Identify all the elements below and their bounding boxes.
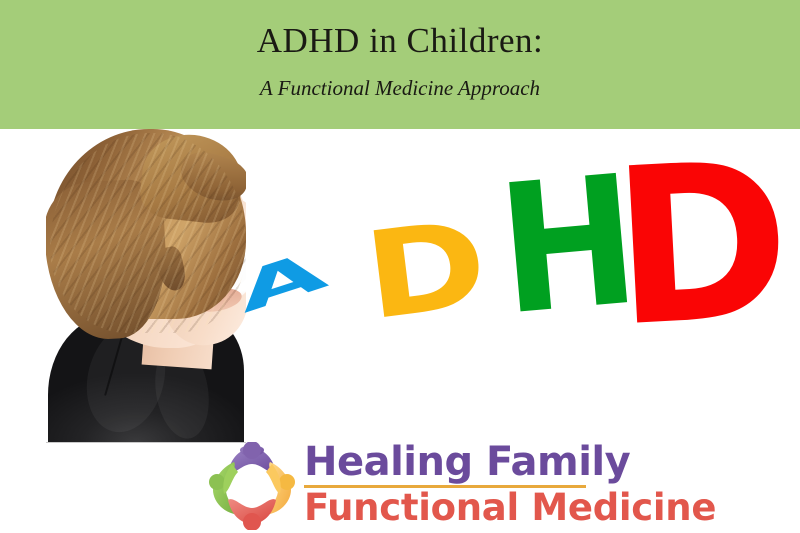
adhd-letter-d-second: D [608, 133, 795, 358]
adhd-letters-group: A D H D [0, 129, 800, 443]
logo-text-functional-medicine: Functional Medicine [304, 489, 716, 526]
logo-figure-top [228, 442, 276, 473]
adhd-letter-a: A [230, 243, 332, 321]
logo-text-healing-family: Healing Family [304, 442, 630, 482]
page-title: ADHD in Children: [0, 22, 800, 61]
logo-mark-icon [206, 442, 298, 530]
logo-wordmark: Healing Family Functional Medicine [304, 440, 588, 530]
slide-canvas: ADHD in Children: A Functional Medicine … [0, 0, 800, 533]
header-band [0, 0, 800, 129]
adhd-letter-d-first: D [359, 203, 494, 336]
healing-family-logo: Healing Family Functional Medicine [206, 440, 588, 530]
page-subtitle: A Functional Medicine Approach [0, 77, 800, 100]
logo-heart-shape [236, 474, 269, 506]
